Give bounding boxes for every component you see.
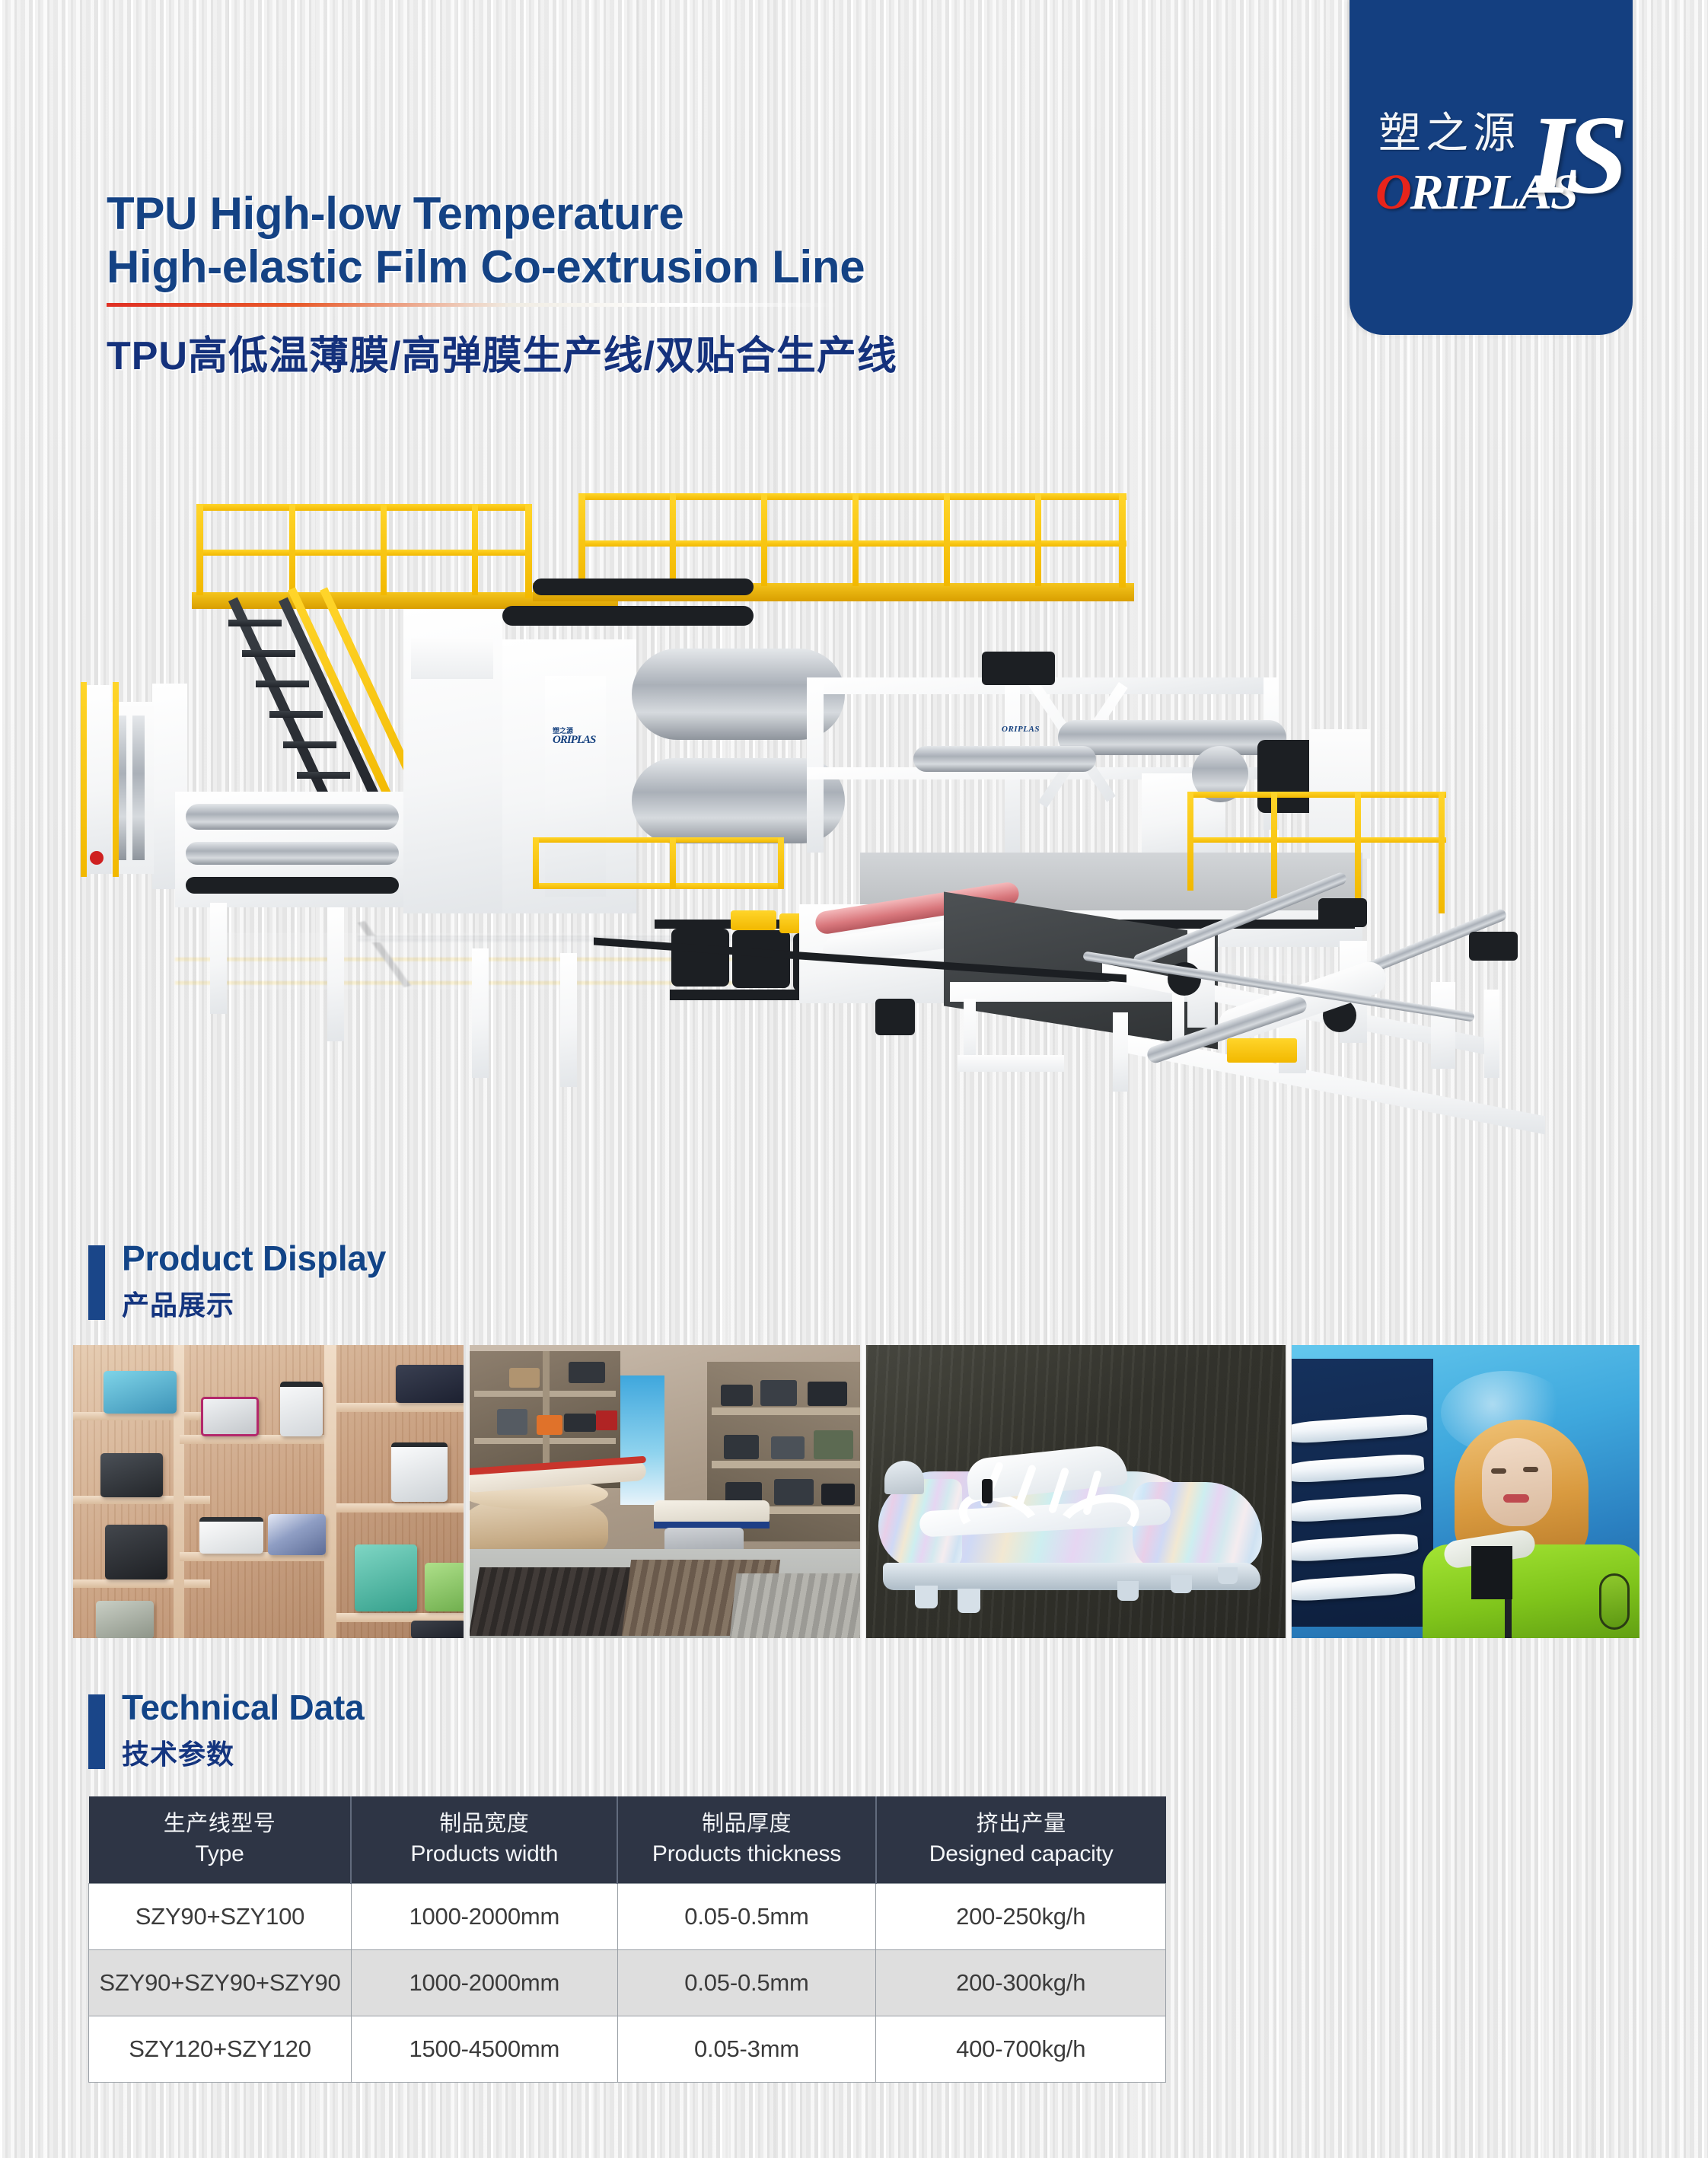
air-mattress-gray: [729, 1573, 860, 1638]
cell-width: 1000-2000mm: [351, 1950, 617, 2016]
cell-thickness: 0.05-0.5mm: [617, 1950, 876, 2016]
column-header-type: 生产线型号 Type: [89, 1796, 352, 1884]
page-title-line-1: TPU High-low Temperature: [107, 188, 684, 239]
table-header-row: 生产线型号 Type 制品宽度 Products width 制品厚度 Prod…: [89, 1796, 1166, 1884]
roller-black-upper: [502, 606, 754, 626]
gallery-photo-inflatable-products-showroom: [470, 1345, 860, 1638]
cleat-outsole: [883, 1563, 1260, 1590]
gantry-brand-plate: ORIPLAS: [1002, 725, 1177, 741]
railing-mid-rail-1: [196, 550, 531, 556]
product-item: [96, 1601, 154, 1638]
logo-plate-column: [545, 676, 606, 897]
section-accent-bar: [88, 1694, 105, 1769]
winder-clamp-yellow: [1227, 1038, 1297, 1063]
cell-type: SZY90+SZY100: [89, 1884, 352, 1950]
section-heading-technical-data: Technical Data 技术参数: [88, 1690, 364, 1772]
product-item: [391, 1442, 448, 1502]
product-item: [104, 1371, 177, 1414]
extruder-barrel-2: [913, 746, 1096, 772]
section-title-cn: 产品展示: [122, 1283, 386, 1323]
gearbox-top: [982, 652, 1055, 685]
product-item: [411, 1621, 464, 1638]
gallery-photo-insulated-cooler-bags-display-shelf: [73, 1345, 464, 1638]
company-logo-badge: 塑之源 ORIPLAS IS: [1350, 0, 1633, 335]
drive-motor-1: [671, 929, 729, 987]
winder-motor-1: [1318, 898, 1367, 927]
page-header: TPU High-low Temperature High-elastic Fi…: [0, 0, 1708, 441]
cell-capacity: 200-250kg/h: [876, 1884, 1166, 1950]
cleat-stud: [1117, 1581, 1139, 1601]
gallery-photo-holographic-football-cleat: [866, 1345, 1286, 1638]
hero-machine-photo: 塑之源 ORIPLAS: [0, 457, 1708, 1233]
cell-thickness: 0.05-3mm: [617, 2016, 876, 2083]
control-cabinet-left: [84, 685, 111, 874]
cleat-lace-tip: [982, 1479, 993, 1503]
mannequin-face: [1482, 1438, 1552, 1526]
section-title-en: Product Display: [122, 1241, 386, 1277]
technical-data-table: 生产线型号 Type 制品宽度 Products width 制品厚度 Prod…: [88, 1796, 1166, 2083]
cleat-stud: [1171, 1575, 1192, 1593]
machine-illustration: 塑之源 ORIPLAS: [0, 457, 1708, 1233]
jacket-arm-pocket: [1599, 1573, 1630, 1630]
cell-capacity: 400-700kg/h: [876, 2016, 1166, 2083]
product-item: [396, 1365, 464, 1403]
section-title-cn: 技术参数: [122, 1732, 364, 1772]
page-title-line-2: High-elastic Film Co-extrusion Line: [107, 241, 1263, 294]
winder-motor-2: [1469, 932, 1518, 961]
cell-capacity: 200-300kg/h: [876, 1950, 1166, 2016]
table-row: SZY120+SZY120 1500-4500mm 0.05-3mm 400-7…: [89, 2016, 1166, 2083]
railing-top-rail-1: [196, 504, 531, 511]
column-header-designed-capacity: 挤出产量 Designed capacity: [876, 1796, 1166, 1884]
title-block: TPU High-low Temperature High-elastic Fi…: [107, 187, 1263, 381]
product-item: [105, 1525, 167, 1579]
column-header-products-thickness: 制品厚度 Products thickness: [617, 1796, 876, 1884]
logo-o-letter: O: [1375, 164, 1410, 220]
cleat-stud: [915, 1586, 938, 1608]
title-divider: [107, 303, 841, 307]
column-header-products-width: 制品宽度 Products width: [351, 1796, 617, 1884]
railing-extruder-platform: [1187, 792, 1446, 798]
cell-thickness: 0.05-0.5mm: [617, 1884, 876, 1950]
cleat-stud: [958, 1589, 980, 1613]
page-subtitle-cn: TPU高低温薄膜/高弹膜生产线/双贴合生产线: [107, 324, 1263, 381]
calender-roller-2: [186, 842, 399, 865]
stair-stringer-outer: [228, 598, 339, 821]
cell-type: SZY90+SZY90+SZY90: [89, 1950, 352, 2016]
technical-data-table-wrapper: 生产线型号 Type 制品宽度 Products width 制品厚度 Prod…: [88, 1796, 1166, 2083]
stair-stringer-inner: [279, 598, 390, 821]
mannequin-lips: [1503, 1494, 1529, 1503]
product-photo-gallery: [73, 1345, 1639, 1638]
table-header: 生产线型号 Type 制品宽度 Products width 制品厚度 Prod…: [89, 1796, 1166, 1884]
page-title: TPU High-low Temperature High-elastic Fi…: [107, 187, 1263, 294]
calender-roller-1: [186, 804, 399, 830]
section-title-en: Technical Data: [122, 1690, 364, 1726]
showroom-poster: [620, 1375, 664, 1505]
cell-type: SZY120+SZY120: [89, 2016, 352, 2083]
product-item: [100, 1453, 163, 1497]
cell-width: 1500-4500mm: [351, 2016, 617, 2083]
product-item: [425, 1563, 464, 1611]
jacket-inner-black: [1471, 1546, 1512, 1599]
product-item: [201, 1397, 259, 1436]
table-body: SZY90+SZY100 1000-2000mm 0.05-0.5mm 200-…: [89, 1884, 1166, 2083]
gallery-photo-mannequin-green-jacket-film-rolls: [1292, 1345, 1639, 1638]
logo-inner: 塑之源 ORIPLAS IS: [1350, 94, 1633, 269]
drive-motor-2: [732, 930, 790, 988]
product-item: [199, 1517, 263, 1554]
cleat-stud: [1218, 1567, 1238, 1584]
section-heading-product-display: Product Display 产品展示: [88, 1241, 386, 1323]
product-item: [268, 1514, 326, 1555]
cleat-toe: [1133, 1482, 1262, 1570]
cleat-heel-tab: [884, 1461, 924, 1494]
section-accent-bar: [88, 1245, 105, 1320]
mannequin-eye: [1523, 1467, 1538, 1472]
logo-chinese-name: 塑之源: [1378, 113, 1520, 155]
cell-width: 1000-2000mm: [351, 1884, 617, 1950]
machine-brand-logo: 塑之源 ORIPLAS: [553, 728, 601, 761]
product-item: [355, 1544, 417, 1611]
logo-monogram: IS: [1529, 99, 1620, 212]
air-mattress-dark: [470, 1567, 643, 1636]
stair-handrail: [288, 587, 401, 818]
table-row: SZY90+SZY90+SZY90 1000-2000mm 0.05-0.5mm…: [89, 1950, 1166, 2016]
product-item: [280, 1382, 323, 1436]
mannequin-eye: [1491, 1468, 1506, 1474]
table-row: SZY90+SZY100 1000-2000mm 0.05-0.5mm 200-…: [89, 1884, 1166, 1950]
